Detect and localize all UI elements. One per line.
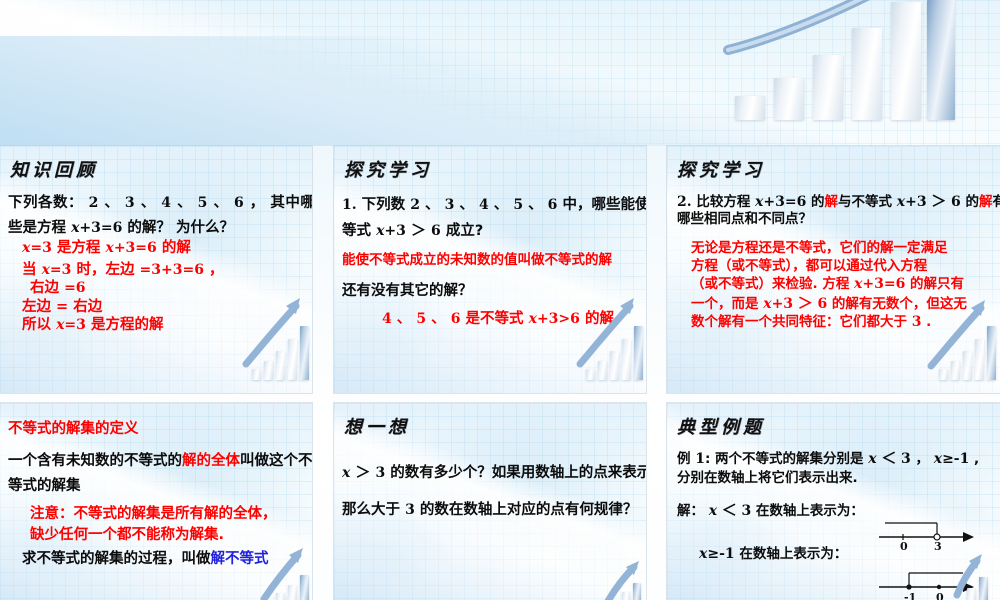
inquiry2-answer-line-4: 一个，而是 x+3 ＞ 6 的解有无数个，但这无 bbox=[691, 296, 992, 312]
inquiry2-question-line-2: 哪些相同点和不同点？ bbox=[677, 213, 992, 227]
review-answer-4: 左边 = 右边 bbox=[22, 300, 304, 315]
inquiry2-answer-line-1: 无论是方程还是不等式，它们的解一定满足 bbox=[691, 242, 992, 256]
panel-body: 1. 下列数 2 、 3 、 4 、 5 、 6 中，哪些能使不 等式 x+3 … bbox=[342, 198, 638, 327]
panel-title: 不等式的解集的定义 bbox=[8, 417, 312, 438]
inquiry2-answer-line-3: （或不等式）来检验. 方程 x+3=6 的解只有 bbox=[691, 277, 992, 292]
inquiry2-question-line-1: 2. 比较方程 x+3=6 的解与不等式 x+3 ＞ 6 的解有 bbox=[677, 194, 992, 210]
svg-text:3: 3 bbox=[934, 540, 942, 551]
svg-text:0: 0 bbox=[936, 591, 944, 600]
panel-think-about-it[interactable]: 想一想 x ＞ 3 的数有多少个？如果用数轴上的点来表示， 那么大于 3 的数在… bbox=[334, 403, 646, 600]
definition-note-2: 缺少任何一个都不能称为解集. bbox=[30, 528, 304, 543]
panel-body: 下列各数： 2 、 3 、 4 、 5 、 6 ， 其中哪 些是方程 x+3=6… bbox=[8, 196, 304, 333]
panel-title: 探究学习 bbox=[677, 156, 1000, 182]
definition-note-1: 注意：不等式的解集是所有解的全体， bbox=[30, 507, 304, 522]
panel-typical-example[interactable]: 典型例题 例 1: 两个不等式的解集分别是 x ＜ 3 ， x≥-1 , 分别在… bbox=[667, 403, 1000, 600]
slide-canvas: 知识回顾 下列各数： 2 、 3 、 4 、 5 、 6 ， 其中哪 些是方程 … bbox=[0, 0, 1000, 600]
inquiry1-question-line-1: 1. 下列数 2 、 3 、 4 、 5 、 6 中，哪些能使不 bbox=[342, 198, 638, 213]
svg-text:-1: -1 bbox=[904, 591, 916, 600]
panel-inquiry-2[interactable]: 探究学习 2. 比较方程 x+3=6 的解与不等式 x+3 ＞ 6 的解有 哪些… bbox=[667, 146, 1000, 393]
review-line-1: 下列各数： 2 、 3 、 4 、 5 、 6 ， 其中哪 bbox=[8, 196, 304, 211]
panel-body: x ＞ 3 的数有多少个？如果用数轴上的点来表示， 那么大于 3 的数在数轴上对… bbox=[342, 465, 638, 517]
panel-solution-set-definition[interactable]: 不等式的解集的定义 一个含有未知数的不等式的解的全体叫做这个不 等式的解集 注意… bbox=[0, 403, 312, 600]
example-statement-line-2: 分别在数轴上将它们表示出来. bbox=[677, 472, 992, 486]
growth-bar-chart-icon bbox=[586, 322, 646, 380]
growth-bar-chart-icon bbox=[735, 0, 955, 120]
inquiry2-answer-line-2: 方程（或不等式），都可以通过代入方程 bbox=[691, 260, 992, 274]
growth-bar-chart-icon bbox=[967, 575, 999, 600]
panel-body: 一个含有未知数的不等式的解的全体叫做这个不 等式的解集 注意：不等式的解集是所有… bbox=[8, 454, 304, 567]
panel-title: 探究学习 bbox=[344, 156, 646, 182]
panel-title: 知识回顾 bbox=[10, 156, 312, 182]
definition-line-1: 一个含有未知数的不等式的解的全体叫做这个不 bbox=[8, 454, 304, 469]
review-line-2: 些是方程 x+3=6 的解？ 为什么？ bbox=[8, 221, 304, 236]
review-answer-3: 右边 =6 bbox=[30, 281, 304, 296]
review-answer-2: 当 x=3 时，左边 =3+3=6 ， bbox=[22, 263, 304, 278]
growth-bar-chart-icon bbox=[276, 571, 312, 600]
inquiry1-question-line-2: 等式 x+3 ＞ 6 成立? bbox=[342, 223, 638, 239]
numberline-x-less-than-3: 0 3 bbox=[877, 515, 977, 551]
panel-inquiry-1[interactable]: 探究学习 1. 下列数 2 、 3 、 4 、 5 、 6 中，哪些能使不 等式… bbox=[334, 146, 646, 393]
definition-conclusion: 求不等式的解集的过程，叫做解不等式 bbox=[22, 552, 304, 567]
panel-title: 想一想 bbox=[344, 413, 646, 439]
inquiry1-definition: 能使不等式成立的未知数的值叫做不等式的解 bbox=[342, 254, 638, 268]
growth-bar-chart-icon bbox=[622, 581, 646, 600]
svg-text:0: 0 bbox=[900, 540, 908, 551]
inquiry1-followup: 还有没有其它的解？ bbox=[342, 284, 638, 299]
panel-title: 典型例题 bbox=[677, 413, 1000, 439]
growth-bar-chart-icon bbox=[939, 322, 1000, 380]
growth-bar-chart-icon bbox=[252, 322, 312, 380]
numberline-x-ge-minus-1: -1 0 bbox=[877, 565, 977, 600]
example-statement-line-1: 例 1: 两个不等式的解集分别是 x ＜ 3 ， x≥-1 , bbox=[677, 451, 992, 467]
think-question-line-1: x ＞ 3 的数有多少个？如果用数轴上的点来表示， bbox=[342, 465, 638, 481]
banner-header bbox=[0, 0, 1000, 146]
review-answer-1: x=3 是方程 x+3=6 的解 bbox=[22, 241, 304, 256]
think-question-line-2: 那么大于 3 的数在数轴上对应的点有何规律？ bbox=[342, 503, 638, 518]
panel-knowledge-review[interactable]: 知识回顾 下列各数： 2 、 3 、 4 、 5 、 6 ， 其中哪 些是方程 … bbox=[0, 146, 312, 393]
panel-body: 2. 比较方程 x+3=6 的解与不等式 x+3 ＞ 6 的解有 哪些相同点和不… bbox=[677, 194, 992, 330]
definition-line-2: 等式的解集 bbox=[8, 479, 304, 494]
